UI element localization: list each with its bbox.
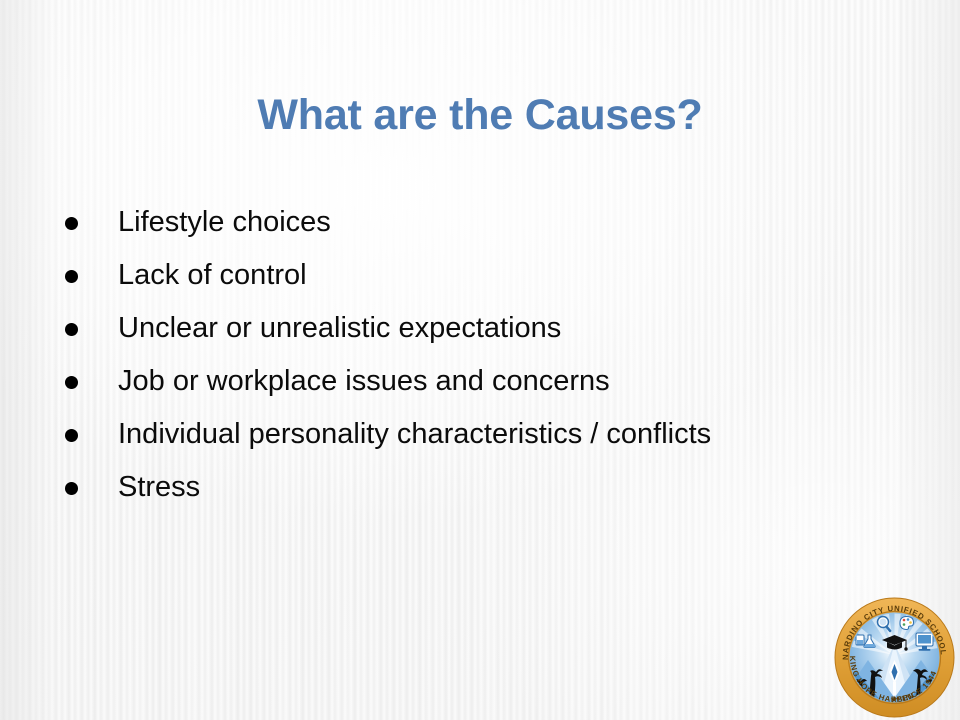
causes-bullet-list: Lifestyle choices Lack of control Unclea… [55, 196, 915, 514]
list-item: Unclear or unrealistic expectations [55, 302, 915, 355]
bullet-dot-icon [65, 323, 78, 336]
list-item-label: Job or workplace issues and concerns [118, 355, 610, 408]
presentation-slide: What are the Causes? Lifestyle choices L… [0, 0, 960, 720]
bullet-dot-icon [65, 429, 78, 442]
list-item-label: Lifestyle choices [118, 196, 331, 249]
list-item-label: Individual personality characteristics /… [118, 408, 711, 461]
bullet-dot-icon [65, 217, 78, 230]
list-item-label: Lack of control [118, 249, 307, 302]
slide-content: What are the Causes? Lifestyle choices L… [0, 0, 960, 720]
list-item: Job or workplace issues and concerns [55, 355, 915, 408]
school-district-seal-logo: SAN BERNARDINO CITY UNIFIED SCHOOL DISTR… [833, 596, 956, 719]
bullet-dot-icon [65, 376, 78, 389]
list-item: Individual personality characteristics /… [55, 408, 915, 461]
list-item: Lifestyle choices [55, 196, 915, 249]
bullet-dot-icon [65, 270, 78, 283]
list-item-label: Stress [118, 461, 200, 514]
list-item: Lack of control [55, 249, 915, 302]
list-item-label: Unclear or unrealistic expectations [118, 302, 561, 355]
slide-title: What are the Causes? [0, 89, 960, 141]
bullet-dot-icon [65, 482, 78, 495]
list-item: Stress [55, 461, 915, 514]
